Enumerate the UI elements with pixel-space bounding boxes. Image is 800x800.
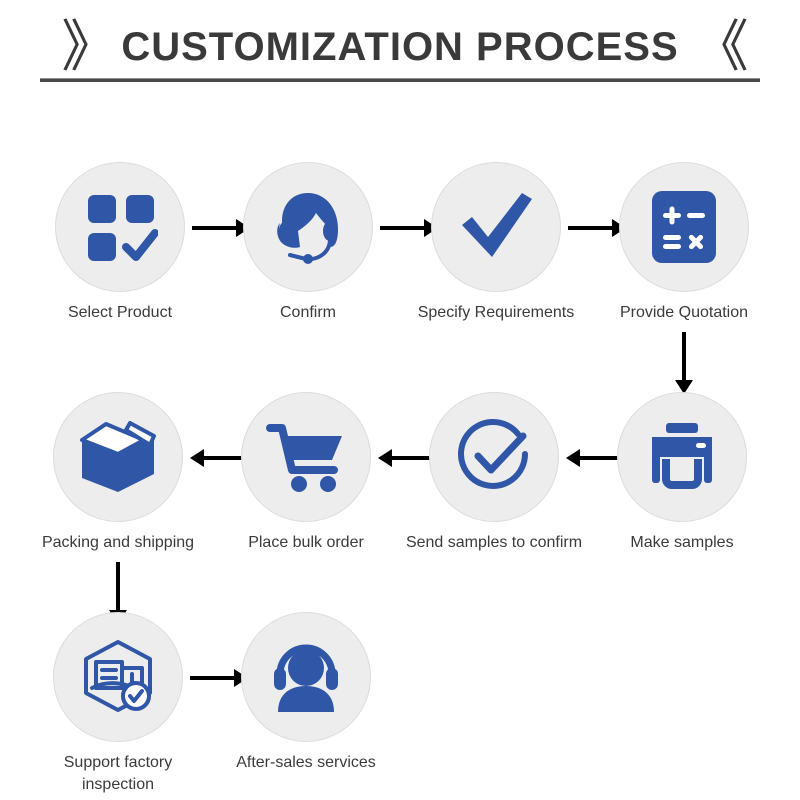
header-divider — [40, 78, 760, 82]
step-place-bulk-order[interactable]: Place bulk order — [216, 392, 396, 554]
grid-check-icon — [82, 189, 158, 265]
factory-inspection-icon — [78, 638, 158, 716]
step-label: Specify Requirements — [418, 302, 575, 324]
step-icon-circle — [55, 162, 185, 292]
page-header: 》 CUSTOMIZATION PROCESS 《 — [0, 12, 800, 82]
step-icon-circle — [241, 392, 371, 522]
support-agent-woman-icon — [268, 187, 348, 267]
step-icon-circle — [429, 392, 559, 522]
step-label: Send samples to confirm — [406, 532, 582, 554]
step-support-factory-inspection[interactable]: Support factory inspection — [28, 612, 208, 795]
chevron-right-double-left-icon: 》 — [61, 21, 117, 73]
step-packing-and-shipping[interactable]: Packing and shipping — [28, 392, 208, 554]
step-label: Packing and shipping — [42, 532, 194, 554]
step-icon-circle — [619, 162, 749, 292]
step-label: Make samples — [630, 532, 733, 554]
shopping-cart-icon — [266, 420, 346, 494]
step-label: Support factory inspection — [43, 752, 193, 795]
step-label: After-sales services — [236, 752, 376, 774]
step-icon-circle — [241, 612, 371, 742]
step-label: Confirm — [280, 302, 336, 324]
step-icon-circle — [617, 392, 747, 522]
step-confirm[interactable]: Confirm — [218, 162, 398, 324]
step-icon-circle — [53, 392, 183, 522]
title-row: 》 CUSTOMIZATION PROCESS 《 — [61, 21, 738, 73]
checkmark-bold-icon — [456, 189, 536, 265]
step-icon-circle — [431, 162, 561, 292]
arrow-down-row1-row2 — [674, 332, 694, 394]
step-label: Provide Quotation — [620, 302, 748, 324]
step-label: Place bulk order — [248, 532, 364, 554]
headset-person-icon — [266, 640, 346, 714]
step-icon-circle — [243, 162, 373, 292]
printer-icon — [642, 421, 722, 493]
step-send-samples-to-confirm[interactable]: Send samples to confirm — [404, 392, 584, 554]
step-make-samples[interactable]: Make samples — [592, 392, 772, 554]
step-provide-quotation[interactable]: Provide Quotation — [594, 162, 774, 324]
step-icon-circle — [53, 612, 183, 742]
customization-process-infographic: 》 CUSTOMIZATION PROCESS 《 Select Product — [0, 0, 800, 800]
page-title: CUSTOMIZATION PROCESS — [121, 25, 678, 70]
step-label: Select Product — [68, 302, 172, 324]
step-specify-requirements[interactable]: Specify Requirements — [406, 162, 586, 324]
step-after-sales-services[interactable]: After-sales services — [216, 612, 396, 774]
package-box-icon — [78, 418, 158, 496]
step-select-product[interactable]: Select Product — [30, 162, 210, 324]
calculator-icon — [648, 187, 720, 267]
chevron-left-double-right-icon: 《 — [683, 21, 739, 73]
circle-check-outline-icon — [455, 418, 533, 496]
